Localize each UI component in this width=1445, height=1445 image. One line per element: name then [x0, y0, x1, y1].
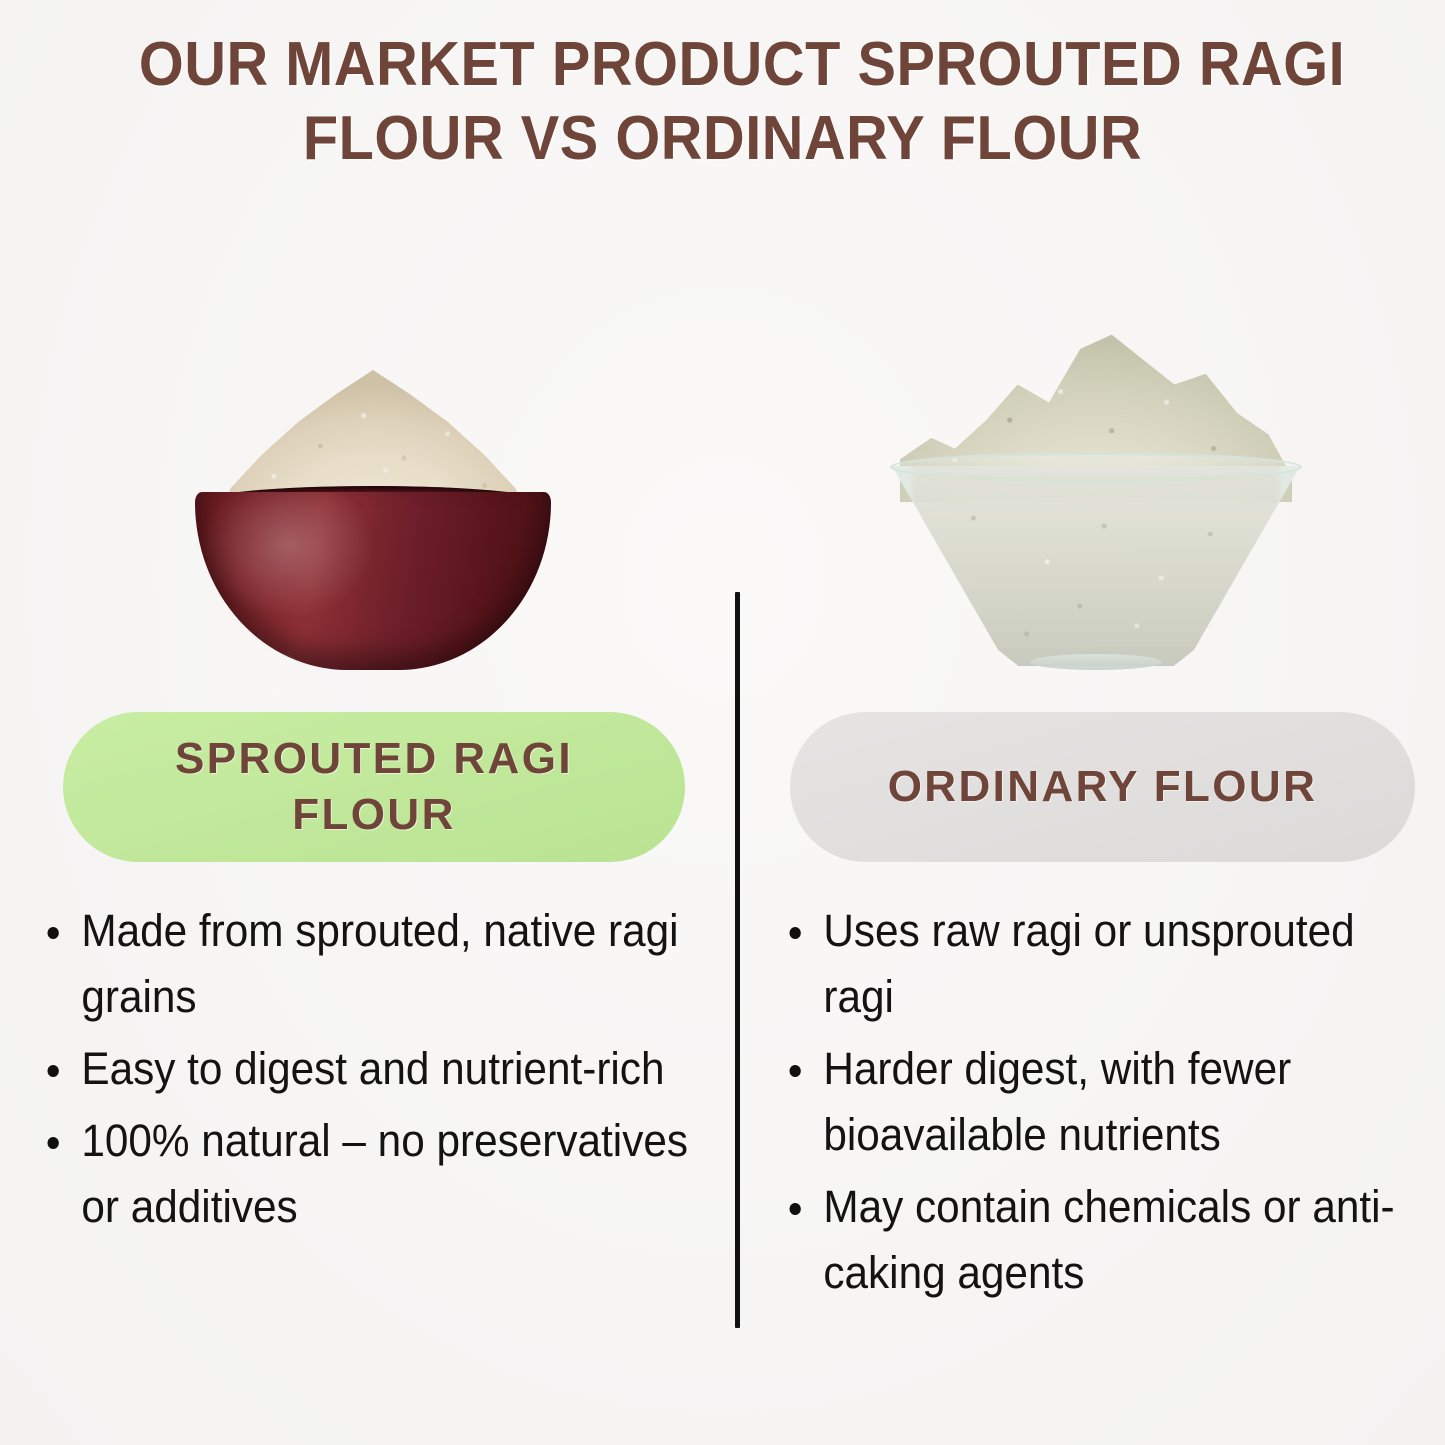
comparison-infographic: OUR MARKET PRODUCT SPROUTED RAGI FLOUR V… — [0, 0, 1445, 1445]
bowl-body-shape — [892, 466, 1300, 666]
badge-label: SPROUTED RAGI FLOUR — [89, 731, 659, 843]
sprouted-ragi-flour-image — [28, 300, 718, 700]
list-item: Harder digest, with fewer bioavailable n… — [782, 1036, 1402, 1168]
list-item: Made from sprouted, native ragi grains — [40, 898, 689, 1030]
ordinary-flour-image — [760, 300, 1432, 700]
list-item: May contain chemicals or anti-caking age… — [782, 1174, 1402, 1306]
glass-bowl-graphic — [892, 324, 1300, 674]
left-column — [28, 300, 718, 700]
bowl-rim-shape — [890, 452, 1302, 482]
page-title-line-1: OUR MARKET PRODUCT SPROUTED RAGI — [139, 28, 1306, 102]
maroon-bowl-graphic — [195, 370, 551, 670]
list-item: Easy to digest and nutrient-rich — [40, 1036, 689, 1102]
right-column — [760, 300, 1432, 700]
column-divider — [735, 592, 740, 1328]
bowl-body-shape — [195, 492, 551, 670]
sprouted-ragi-benefits-list: Made from sprouted, native ragi grains E… — [40, 898, 730, 1246]
page-title-line-2: FLOUR VS ORDINARY FLOUR — [139, 102, 1306, 176]
badge-sprouted-ragi-flour: SPROUTED RAGI FLOUR — [63, 712, 685, 862]
list-item: 100% natural – no preservatives or addit… — [40, 1108, 689, 1240]
bowl-foot-shape — [1030, 654, 1162, 670]
list-item: Uses raw ragi or unsprouted ragi — [782, 898, 1402, 1030]
ordinary-flour-drawbacks-list: Uses raw ragi or unsprouted ragi Harder … — [782, 898, 1442, 1312]
badge-ordinary-flour: ORDINARY FLOUR — [790, 712, 1415, 862]
page-title: OUR MARKET PRODUCT SPROUTED RAGI FLOUR V… — [0, 28, 1445, 176]
badge-label: ORDINARY FLOUR — [888, 759, 1318, 815]
